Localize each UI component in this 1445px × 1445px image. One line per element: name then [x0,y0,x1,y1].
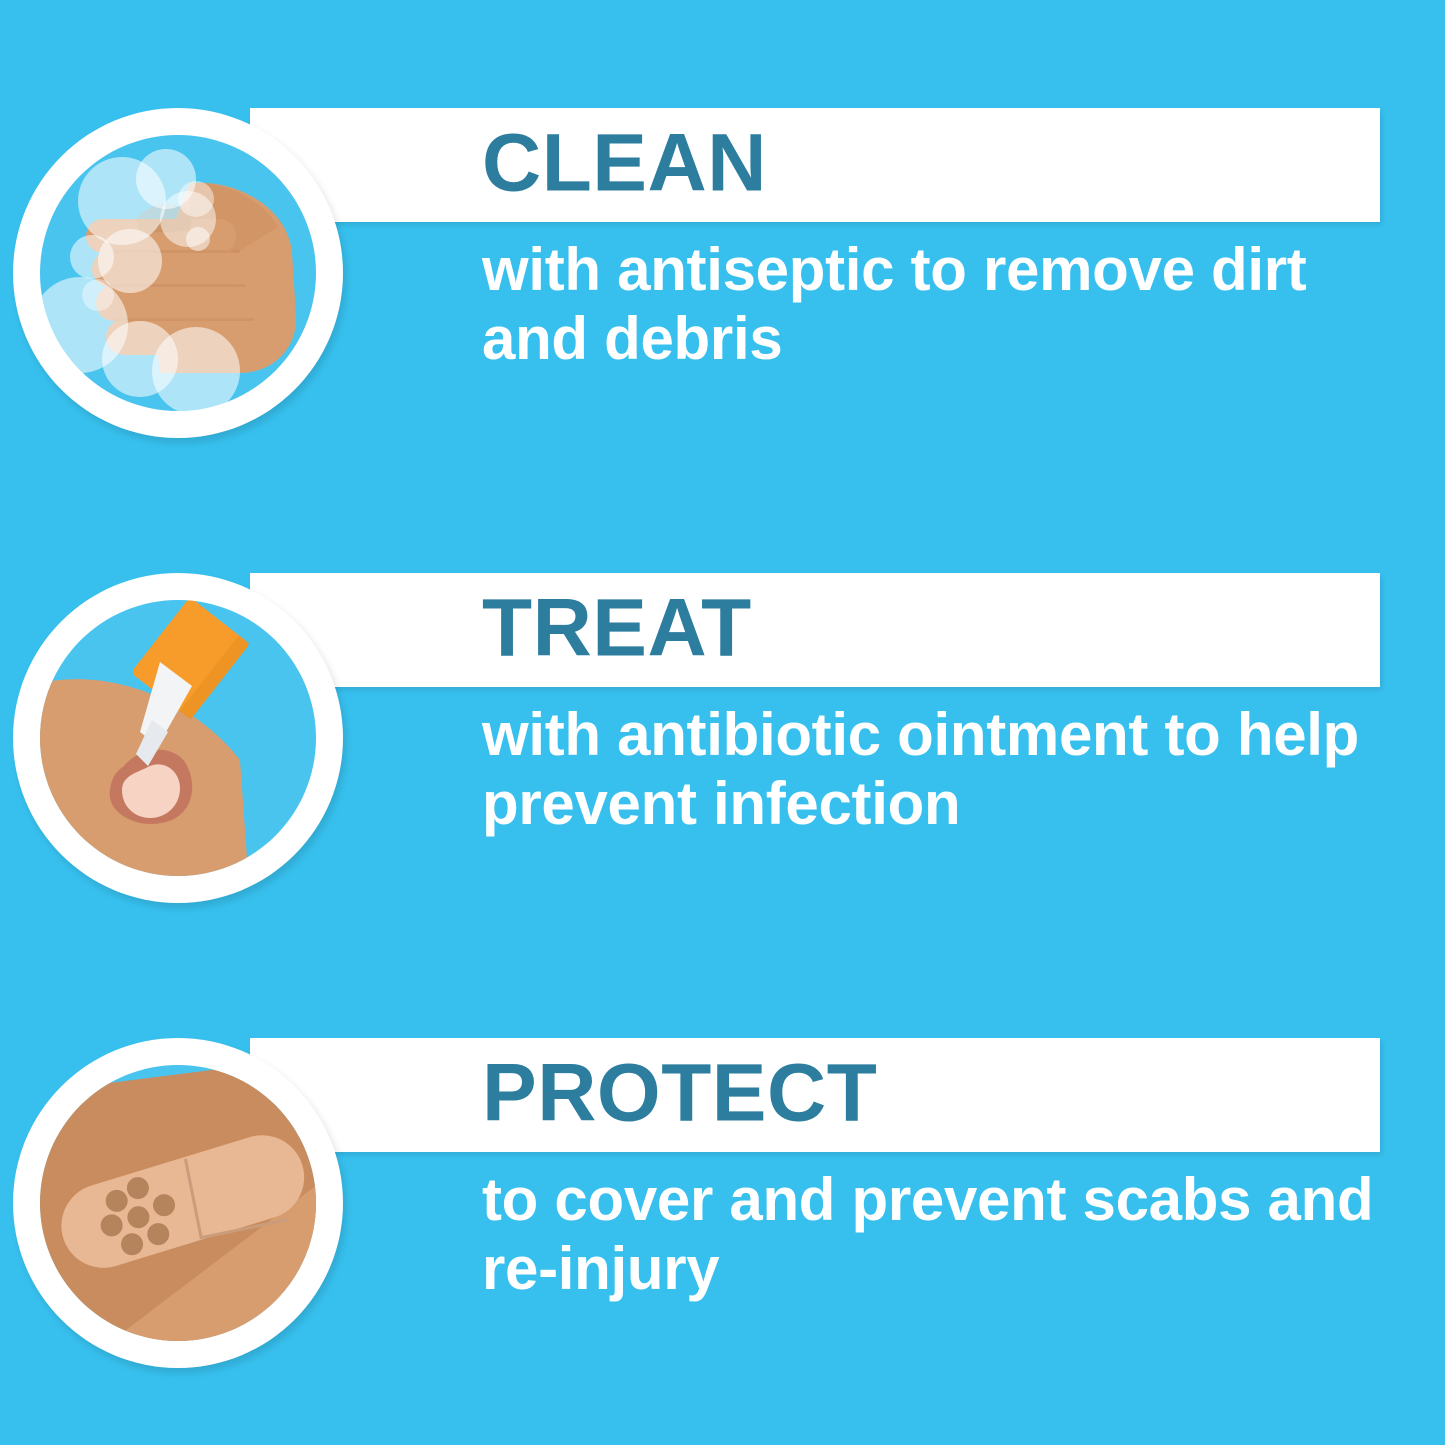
step-protect-icon-wrap [13,1038,343,1368]
step-protect-description: to cover and prevent scabs and re-injury [482,1165,1382,1303]
step-treat-icon-wrap [13,573,343,903]
step-protect-title-band: PROTECT [250,1038,1380,1152]
washing-hands-with-soap-icon [40,135,316,411]
step-clean-title: CLEAN [482,122,767,204]
step-clean: CLEAN with antiseptic to remove dirt and… [0,95,1445,455]
antibiotic-ointment-tube-icon [40,600,316,876]
icon-disc [40,600,316,876]
step-treat: TREAT with antibiotic ointment to help p… [0,560,1445,920]
icon-disc [40,135,316,411]
step-clean-title-band: CLEAN [250,108,1380,222]
adhesive-bandage-icon [40,1065,316,1341]
step-treat-title-band: TREAT [250,573,1380,687]
step-clean-icon-wrap [13,108,343,438]
step-treat-description: with antibiotic ointment to help prevent… [482,700,1382,838]
wound-care-infographic: CLEAN with antiseptic to remove dirt and… [0,0,1445,1445]
step-treat-title: TREAT [482,587,752,669]
step-protect-title: PROTECT [482,1052,877,1134]
step-clean-description: with antiseptic to remove dirt and debri… [482,235,1382,373]
step-protect: PROTECT to cover and prevent scabs and r… [0,1025,1445,1385]
icon-disc [40,1065,316,1341]
